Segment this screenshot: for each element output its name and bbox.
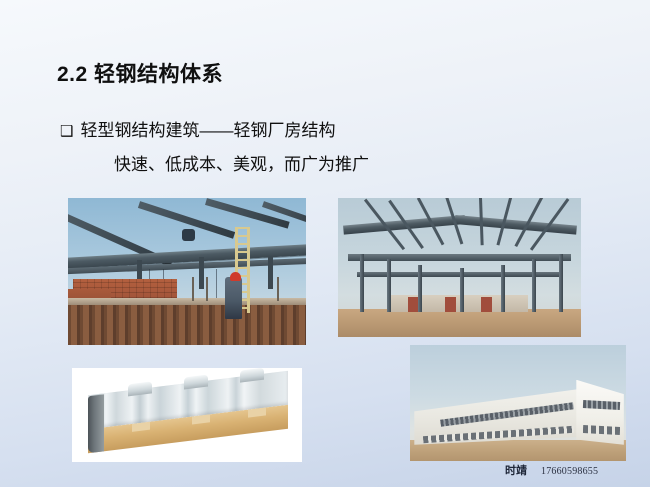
bullet-line-primary: ❑ 轻型钢结构建筑——轻钢厂房结构 <box>60 118 490 144</box>
beam-connector <box>268 257 273 289</box>
footer-phone-number: 17660598655 <box>541 466 598 477</box>
slide-title: 2.2 轻钢结构体系 <box>57 58 223 88</box>
photo-sandwich-panel-content <box>72 368 302 462</box>
photo-steel-frame-interior <box>338 198 581 337</box>
worker-on-beam <box>182 229 195 241</box>
steel-column <box>360 254 364 312</box>
concrete-deck <box>68 298 306 305</box>
photo-warehouse-content <box>410 345 626 461</box>
steel-column <box>532 259 536 312</box>
bullet-line-secondary-text: 快速、低成本、美观，而广为推广 <box>60 152 490 178</box>
steel-column <box>460 268 464 312</box>
rebar <box>277 277 279 301</box>
footer-author-name: 时靖 <box>505 462 527 478</box>
photo-steel-frame-content <box>338 198 581 337</box>
rebar <box>206 277 208 301</box>
footer-watermark: 时靖 17660598655 <box>505 462 598 478</box>
photo-construction-site <box>68 198 306 345</box>
gable-window-band <box>583 400 620 410</box>
timber-formwork <box>68 305 306 345</box>
hanging-wire <box>216 269 217 301</box>
bullet-line-primary-text: 轻型钢结构建筑——轻钢厂房结构 <box>80 118 335 144</box>
rebar <box>192 277 194 301</box>
tie-beam-upper <box>348 254 572 261</box>
steel-column <box>387 259 391 312</box>
steel-column <box>418 265 422 312</box>
beam-connector <box>199 257 204 289</box>
photo-warehouse-exterior <box>410 345 626 461</box>
panel-edge <box>88 395 104 454</box>
wall-door <box>481 297 492 312</box>
wall-door <box>445 297 456 312</box>
photo-construction-site-content <box>68 198 306 345</box>
steel-column <box>559 254 563 312</box>
worker-red-helmet <box>230 272 241 281</box>
bullet-content-block: ❑ 轻型钢结构建筑——轻钢厂房结构 快速、低成本、美观，而广为推广 <box>60 118 490 178</box>
presentation-slide: 2.2 轻钢结构体系 ❑ 轻型钢结构建筑——轻钢厂房结构 快速、低成本、美观，而… <box>0 0 650 487</box>
square-bullet-icon: ❑ <box>60 118 73 144</box>
sandy-ground <box>338 309 581 337</box>
steel-column <box>501 265 505 312</box>
worker-body <box>225 277 242 319</box>
photo-sandwich-roof-panel <box>72 368 302 462</box>
